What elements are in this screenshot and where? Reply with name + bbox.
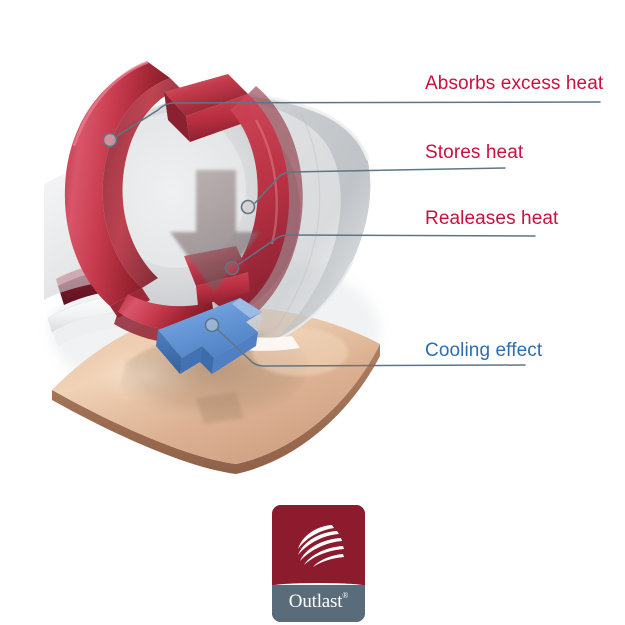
callout-dot-absorbs [104,134,117,147]
callout-dot-stores [242,201,255,214]
logo-wordmark: Outlast® [289,591,348,613]
outlast-logo: Outlast® [272,505,365,622]
logo-brand-text: Outlast [289,591,343,612]
callout-dot-cooling [206,319,219,332]
callout-label-absorbs: Absorbs excess heat [425,74,603,93]
callout-dot-releases [226,262,239,275]
logo-bottom-panel: Outlast® [272,585,365,622]
callout-label-cooling: Cooling effect [425,341,542,360]
outlast-swoosh-emblem [292,522,346,568]
callout-label-stores: Stores heat [425,143,523,162]
diagram-canvas: Absorbs excess heat Stores heat Realease… [0,0,625,625]
logo-card: Outlast® [272,505,365,622]
callout-label-releases: Realeases heat [425,209,558,228]
registered-mark: ® [342,591,348,600]
